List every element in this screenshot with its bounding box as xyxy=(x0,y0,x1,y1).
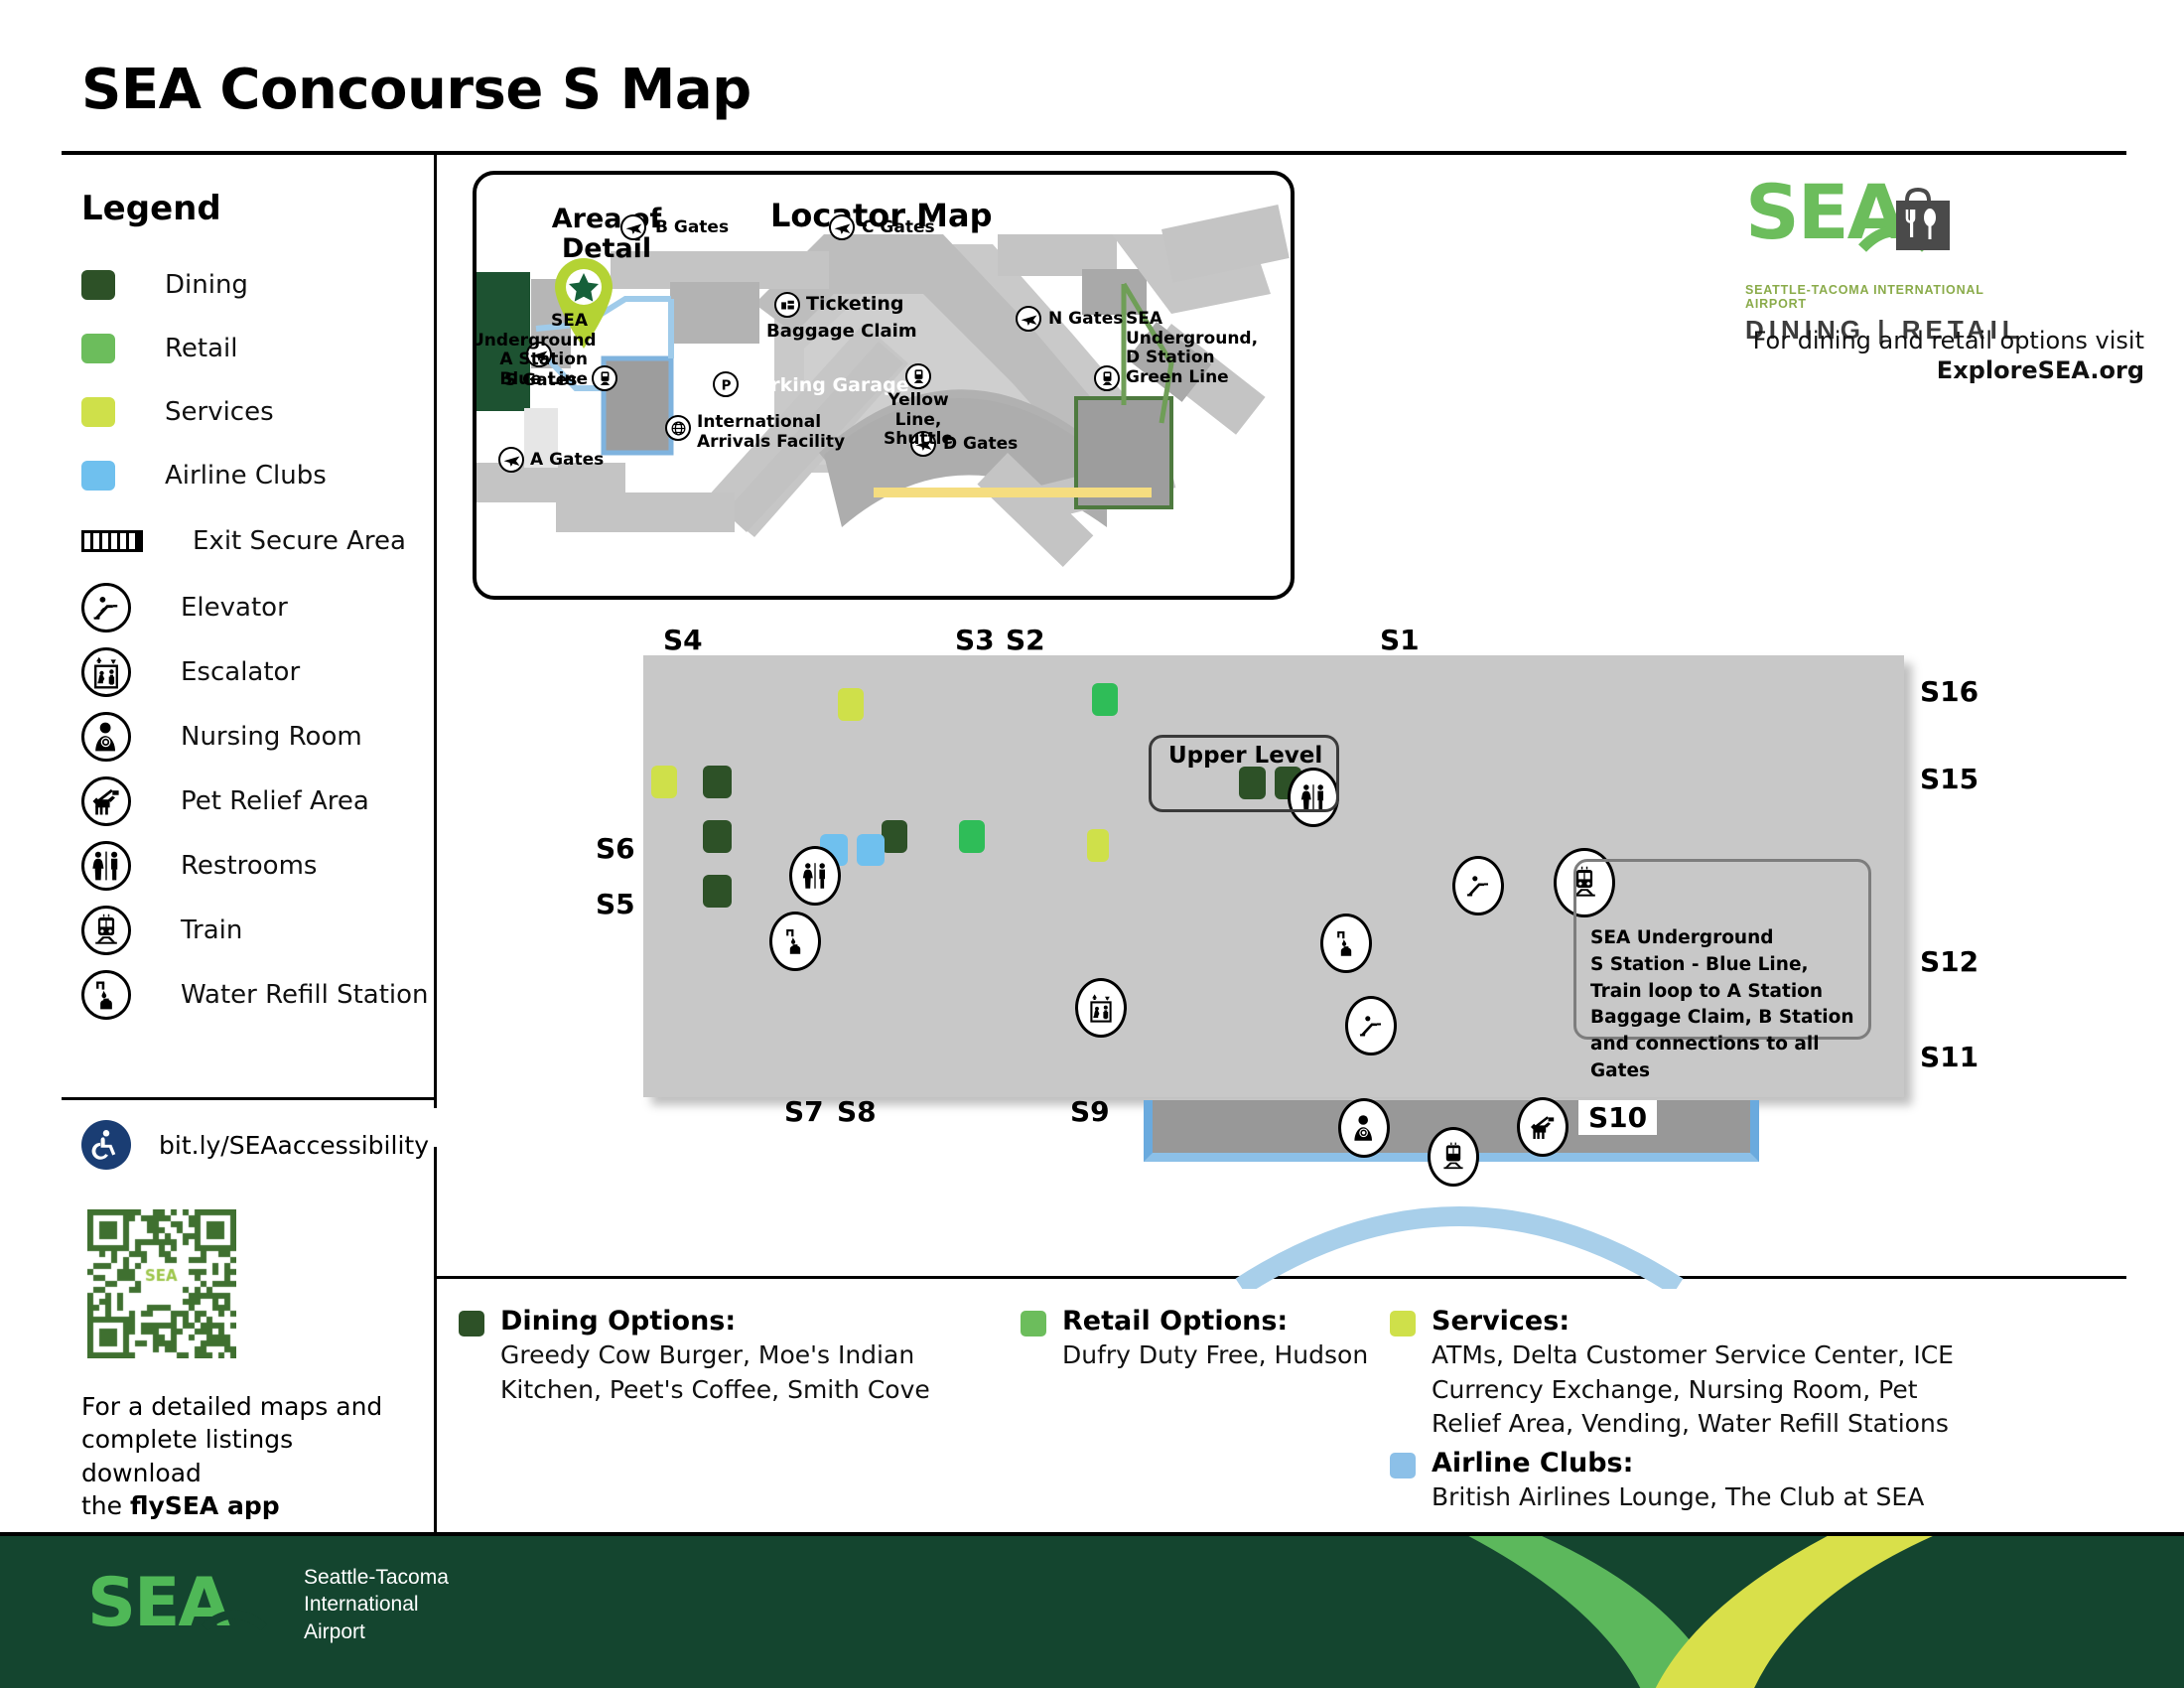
sea-brand-logo: SEA xyxy=(1745,177,2043,272)
legend-label-restrooms: Restrooms xyxy=(181,851,317,881)
gate-label-s3: S3 xyxy=(955,624,995,656)
escalator-icon-map-east-lower xyxy=(1345,996,1397,1055)
legend-item-elevator: Elevator xyxy=(81,575,419,639)
services-options-swatch xyxy=(1390,1311,1416,1336)
qr-code[interactable] xyxy=(87,1209,236,1358)
footer-line2: International xyxy=(304,1591,449,1618)
map-marker-services xyxy=(651,766,677,798)
app-note-line2: complete listings download xyxy=(81,1425,293,1486)
ticketing-icon xyxy=(774,292,800,318)
gate-label-s15: S15 xyxy=(1920,763,1979,795)
map-marker-dining xyxy=(703,820,732,853)
plane-icon-b-gates xyxy=(620,214,646,240)
airline-clubs-options-items: British Airlines Lounge, The Club at SEA xyxy=(1432,1480,1985,1515)
water-refill-icon xyxy=(81,970,131,1020)
escalator-icon-map-east xyxy=(1452,856,1504,915)
water-refill-icon-map-west xyxy=(769,912,821,971)
app-note-line1: For a detailed maps and xyxy=(81,1392,382,1421)
upper-level-title: Upper Level xyxy=(1168,743,1322,769)
label-sea-underground-d: SEA Underground, D Station Green Line xyxy=(1126,310,1291,387)
label-baggage-claim: Baggage Claim xyxy=(766,322,917,343)
footer-line3: Airport xyxy=(304,1618,449,1645)
legend-label-dining: Dining xyxy=(165,270,248,300)
map-marker-dining xyxy=(882,820,907,853)
airline-clubs-options-block: Airline Clubs: British Airlines Lounge, … xyxy=(1390,1448,1985,1515)
sea-underground-note: SEA Underground S Station - Blue Line, T… xyxy=(1590,925,1878,1085)
legend-label-nursing-room: Nursing Room xyxy=(181,722,362,752)
gate-label-s5: S5 xyxy=(596,888,635,920)
gate-label-s6: S6 xyxy=(596,832,635,865)
svg-text:P: P xyxy=(721,378,731,393)
legend-item-services: Services xyxy=(81,380,419,444)
map-marker-services xyxy=(1087,829,1109,862)
dining-swatch xyxy=(81,270,115,300)
label-intl-arrivals: International Arrivals Facility xyxy=(697,413,845,452)
svg-text:SEA: SEA xyxy=(1745,177,1906,256)
services-options-block: Services: ATMs, Delta Customer Service C… xyxy=(1390,1306,1985,1442)
airline-clubs-options-swatch xyxy=(1390,1453,1416,1478)
legend-item-retail: Retail xyxy=(81,317,419,380)
train-icon-map-lower xyxy=(1428,1127,1479,1187)
sea-dining-retail-brand: SEA SEATTLE-TACOMA INTERNATIONAL AIRPORT… xyxy=(1745,177,2043,346)
footer-line1: Seattle-Tacoma xyxy=(304,1564,449,1591)
label-n-gates: N Gates xyxy=(1048,310,1123,330)
retail-options-title: Retail Options: xyxy=(1062,1306,1288,1336)
services-options-title: Services: xyxy=(1432,1306,1570,1336)
map-marker-airline-clubs xyxy=(857,834,885,866)
escalator-icon xyxy=(81,647,131,697)
services-options-items: ATMs, Delta Customer Service Center, ICE… xyxy=(1432,1338,1985,1442)
retail-swatch xyxy=(81,334,115,363)
accessibility-link[interactable]: bit.ly/SEAaccessibility xyxy=(159,1131,429,1160)
water-refill-icon-map-center xyxy=(1320,914,1372,973)
gate-label-s7: S7 xyxy=(784,1095,824,1128)
map-marker-services xyxy=(838,688,864,721)
legend-label-pet-relief: Pet Relief Area xyxy=(181,786,369,816)
legend-item-nursing-room: Nursing Room xyxy=(81,704,419,769)
brand-subtitle: SEATTLE-TACOMA INTERNATIONAL AIRPORT xyxy=(1745,283,2043,311)
page-title: SEA Concourse S Map xyxy=(81,58,751,122)
wheelchair-icon xyxy=(81,1120,131,1170)
legend-item-water-refill: Water Refill Station xyxy=(81,962,419,1027)
retail-options-swatch xyxy=(1021,1311,1046,1336)
pet-relief-icon-map xyxy=(1517,1097,1569,1157)
legend-label-escalator: Escalator xyxy=(181,657,300,687)
train-icon xyxy=(81,906,131,955)
dining-options-block: Dining Options: Greedy Cow Burger, Moe's… xyxy=(459,1306,1015,1407)
footer-logo: SEA Seattle-Tacoma International Airport xyxy=(87,1564,449,1645)
brand-note-url[interactable]: ExploreSEA.org xyxy=(1937,356,2144,384)
page-footer: SEA Seattle-Tacoma International Airport xyxy=(0,1536,2184,1688)
plane-icon-c-gates xyxy=(829,214,855,240)
map-marker-retail xyxy=(959,820,985,853)
legend-label-exit-secure: Exit Secure Area xyxy=(193,526,406,556)
airline-clubs-options-title: Airline Clubs: xyxy=(1432,1448,1633,1478)
elevator-icon xyxy=(81,583,131,633)
map-marker-dining xyxy=(703,766,732,798)
label-ticketing: Ticketing xyxy=(806,294,903,316)
train-icon-a-station xyxy=(592,365,617,391)
gate-label-s9: S9 xyxy=(1070,1095,1110,1128)
gate-label-s11: S11 xyxy=(1920,1041,1979,1073)
parking-icon: P xyxy=(713,371,739,397)
legend-heading: Legend xyxy=(81,189,221,228)
app-note-flysea: flySEA app xyxy=(130,1491,280,1520)
train-icon-d-station xyxy=(1094,365,1120,391)
legend-label-retail: Retail xyxy=(165,334,237,363)
retail-options-block: Retail Options: Dufry Duty Free, Hudson xyxy=(1021,1306,1398,1373)
svg-text:SEA: SEA xyxy=(87,1566,230,1642)
pet-relief-icon xyxy=(81,776,131,826)
legend-item-dining: Dining xyxy=(81,253,419,317)
services-swatch xyxy=(81,397,115,427)
retail-options-items: Dufry Duty Free, Hudson xyxy=(1062,1338,1398,1373)
legend-item-escalator: Escalator xyxy=(81,639,419,704)
legend-item-train: Train xyxy=(81,898,419,962)
legend-label-elevator: Elevator xyxy=(181,593,288,623)
dining-options-items: Greedy Cow Burger, Moe's Indian Kitchen,… xyxy=(500,1338,1015,1407)
legend-label-airline-clubs: Airline Clubs xyxy=(165,461,327,491)
restrooms-icon-map-west xyxy=(789,846,841,906)
gate-label-s8: S8 xyxy=(837,1095,877,1128)
legend-item-pet-relief: Pet Relief Area xyxy=(81,769,419,833)
label-sea-underground-a: SEA Underground A Station Blue Line xyxy=(473,312,588,389)
gate-label-s1: S1 xyxy=(1380,624,1420,656)
nursing-room-icon-map xyxy=(1338,1098,1390,1158)
legend-item-exit-secure: Exit Secure Area xyxy=(81,507,419,575)
escalator-icon-map-center xyxy=(1075,978,1127,1038)
app-note-line3-prefix: the xyxy=(81,1491,130,1520)
globe-icon-intl-arrivals xyxy=(665,415,691,441)
legend-section-divider xyxy=(62,1097,435,1100)
label-c-gates: C Gates xyxy=(862,218,935,238)
gate-label-s16: S16 xyxy=(1920,675,1979,708)
gate-label-s4: S4 xyxy=(663,624,703,656)
map-marker-retail xyxy=(1092,683,1118,716)
gate-label-s10: S10 xyxy=(1578,1100,1657,1135)
flysea-app-note: For a detailed maps and complete listing… xyxy=(81,1390,409,1522)
legend-list: Dining Retail Services Airline Clubs Exi… xyxy=(81,253,419,1027)
footer-swoosh xyxy=(1092,1536,2184,1688)
plane-icon-n-gates xyxy=(1016,306,1041,332)
locator-map: Locator Map Area of Detail S Gates A Gat… xyxy=(473,171,1295,600)
map-marker-dining xyxy=(703,875,732,908)
restrooms-icon xyxy=(81,841,131,891)
label-a-gates: A Gates xyxy=(530,451,604,471)
gate-label-s2: S2 xyxy=(1006,624,1045,656)
legend-label-services: Services xyxy=(165,397,274,427)
legend-label-train: Train xyxy=(181,915,242,945)
nursing-room-icon xyxy=(81,712,131,762)
exit-secure-icon xyxy=(81,530,143,552)
brand-note-line1: For dining and retail options visit xyxy=(1753,327,2144,354)
left-column-divider-lower xyxy=(434,1147,437,1534)
label-yellow-line: Yellow Line, Shuttle xyxy=(871,391,966,450)
gate-label-s12: S12 xyxy=(1920,945,1979,978)
left-column-divider xyxy=(434,155,437,1108)
upper-level-box: Upper Level xyxy=(1149,735,1339,812)
brand-note: For dining and retail options visit Expl… xyxy=(1727,326,2144,385)
sea-footer-wordmark: SEA xyxy=(87,1566,286,1643)
plane-icon-a-gates xyxy=(498,447,524,473)
title-divider xyxy=(62,151,2126,155)
dining-options-swatch xyxy=(459,1311,484,1336)
dining-options-title: Dining Options: xyxy=(500,1306,736,1336)
label-b-gates: B Gates xyxy=(655,218,729,238)
legend-item-restrooms: Restrooms xyxy=(81,833,419,898)
train-icon-yellow-line xyxy=(905,363,931,389)
airline-clubs-swatch xyxy=(81,461,115,491)
legend-label-water-refill: Water Refill Station xyxy=(181,980,429,1010)
accessibility-row[interactable]: bit.ly/SEAaccessibility xyxy=(81,1120,429,1170)
legend-item-airline-clubs: Airline Clubs xyxy=(81,444,419,507)
